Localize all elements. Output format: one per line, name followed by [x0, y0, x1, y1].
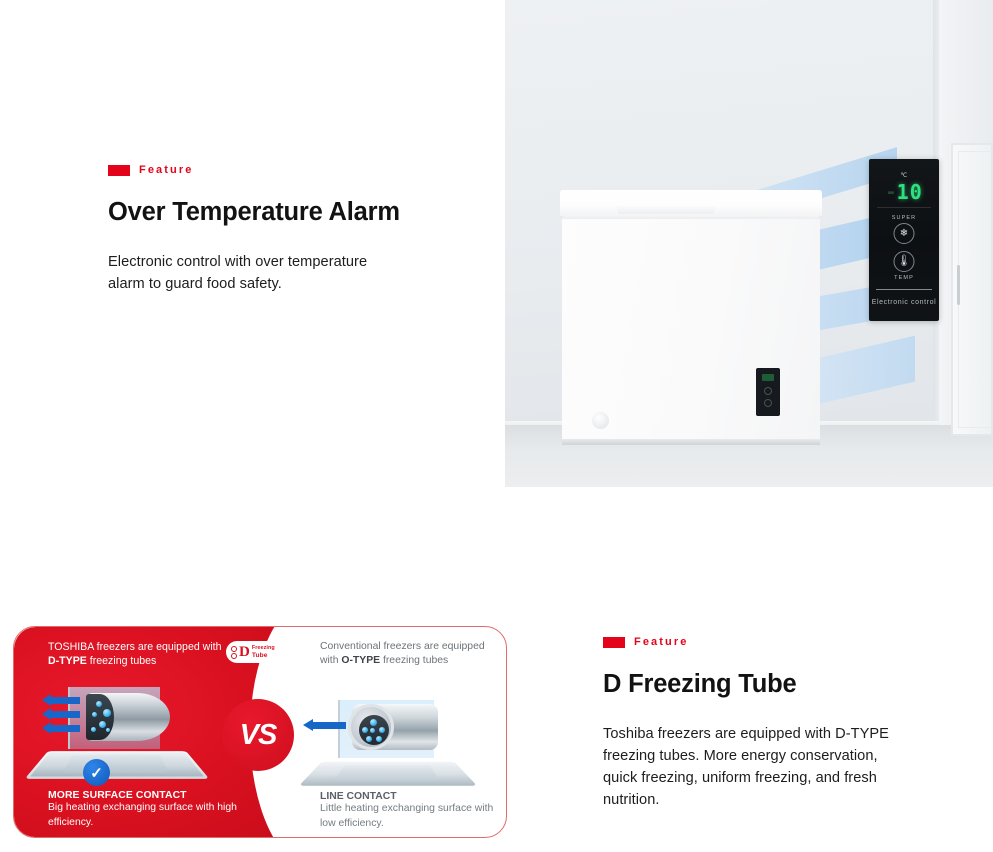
o-tube-core — [359, 715, 389, 745]
o-type-tube-illustration — [312, 700, 482, 792]
check-circle-icon: ✓ — [83, 759, 110, 786]
feature-tag-label: Feature — [139, 164, 193, 176]
feature-body-1: Electronic control with over temperature… — [108, 251, 400, 295]
badge-line1: Freezing — [252, 645, 275, 652]
feature-text-block-2: Feature D Freezing Tube Toshiba freezers… — [603, 635, 943, 811]
thermometer-icon[interactable]: 🌡 — [894, 251, 915, 272]
o-type-bold: O-TYPE — [341, 655, 380, 666]
door-panel — [958, 151, 993, 428]
heat-plate-inner — [63, 755, 169, 772]
more-surface-contact-title: MORE SURFACE CONTACT — [48, 790, 187, 801]
d-freezing-tube-badge: D Freezing Tube — [226, 641, 288, 663]
chest-freezer-unit — [560, 190, 822, 447]
o-type-pre: with — [320, 655, 341, 666]
mini-button-super-icon — [764, 387, 772, 395]
line-contact-body: Little heating exchanging surface with l… — [320, 802, 502, 831]
temperature-display: - 10 — [885, 182, 923, 202]
freezer-body — [562, 219, 820, 441]
mini-display — [762, 374, 774, 381]
d-tube-cross-section — [86, 694, 114, 740]
feature-tag-label: Feature — [634, 636, 688, 648]
mini-button-temp-icon — [764, 399, 772, 407]
super-button-label: SUPER — [892, 215, 916, 221]
heat-plate-inner — [335, 765, 439, 780]
freezer-control-panel-small — [756, 368, 780, 416]
badge-letter: D — [239, 645, 250, 660]
feature-swatch-icon — [603, 637, 625, 648]
feature-tag-2: Feature — [603, 635, 943, 649]
toshiba-headline-line2: D-TYPE freezing tubes — [48, 654, 238, 668]
feature-title-2: D Freezing Tube — [603, 669, 943, 699]
vs-badge: VS — [222, 699, 294, 771]
d-type-rest: freezing tubes — [87, 655, 157, 667]
arrow-icon — [50, 711, 80, 718]
temperature-value: 10 — [897, 182, 923, 202]
feature-text-block-1: Feature Over Temperature Alarm Electroni… — [108, 163, 438, 295]
line-contact-title: LINE CONTACT — [320, 791, 397, 802]
d-type-bold: D-TYPE — [48, 655, 87, 667]
heat-plate-o — [299, 762, 477, 786]
minus-sign: - — [885, 182, 895, 202]
panel-separator — [877, 207, 931, 208]
panel-divider — [876, 289, 932, 290]
feature-title-1: Over Temperature Alarm — [108, 197, 438, 227]
control-panel-brand-text: Electronic control — [872, 299, 937, 306]
freezer-drain-cap — [592, 412, 609, 429]
arrow-icon — [50, 725, 80, 732]
feature-section-over-temperature-alarm: Feature Over Temperature Alarm Electroni… — [0, 0, 993, 488]
conventional-headline-line2: with O-TYPE freezing tubes — [320, 654, 502, 669]
badge-rings-icon — [231, 646, 237, 659]
feature-swatch-icon — [108, 165, 130, 176]
temp-button-label: TEMP — [894, 275, 914, 281]
snowflake-icon[interactable]: ❄ — [894, 223, 915, 244]
more-surface-contact-body: Big heating exchanging surface with high… — [48, 801, 248, 830]
conventional-headline-line1: Conventional freezers are equipped — [320, 640, 498, 655]
feature-tag-1: Feature — [108, 163, 438, 177]
heat-plate-d — [25, 751, 210, 779]
vs-label: VS — [240, 719, 277, 752]
o-tube-cross-section — [348, 704, 394, 750]
freezer-base — [562, 439, 820, 445]
badge-line2: Tube — [252, 652, 275, 659]
toshiba-headline-line1: TOSHIBA freezers are equipped with — [48, 640, 234, 654]
heat-flow-arrows-d — [50, 697, 80, 739]
temperature-unit-label: ℃ — [900, 172, 907, 179]
d-type-tube-illustration — [38, 685, 198, 785]
o-type-rest: freezing tubes — [380, 655, 448, 666]
heat-flow-arrow-o — [312, 722, 346, 729]
chest-freezer-product-photo: ℃ - 10 SUPER ❄ 🌡 TEMP Electronic control — [505, 0, 993, 487]
badge-text: Freezing Tube — [252, 645, 275, 659]
product-feature-page: Feature Over Temperature Alarm Electroni… — [0, 0, 993, 852]
door-frame — [951, 143, 993, 436]
door-handle — [957, 265, 960, 305]
feature-body-2: Toshiba freezers are equipped with D-TYP… — [603, 723, 895, 811]
arrow-icon — [50, 697, 80, 704]
control-panel-callout: ℃ - 10 SUPER ❄ 🌡 TEMP Electronic control — [869, 159, 939, 321]
